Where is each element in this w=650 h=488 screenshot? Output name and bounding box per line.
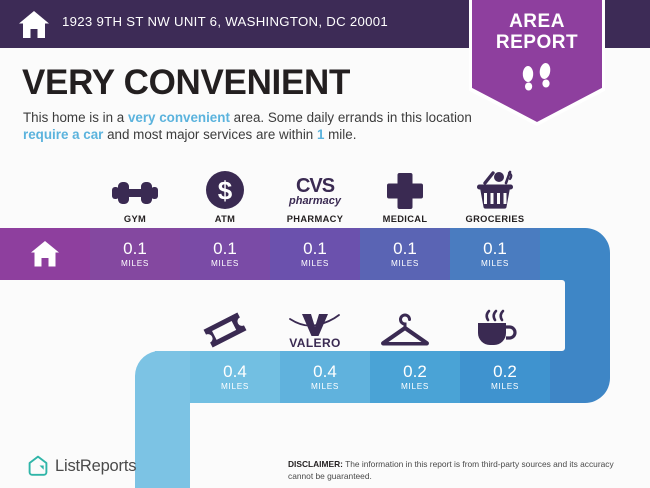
- distance-value: 0.4: [313, 363, 337, 381]
- distance-segment-gym: 0.1 MILES: [90, 228, 180, 280]
- home-marker-segment: [0, 228, 90, 280]
- property-address: 1923 9TH ST NW UNIT 6, WASHINGTON, DC 20…: [62, 14, 388, 29]
- subtitle-part-1: This home is in a: [23, 110, 128, 125]
- distance-value: 0.1: [123, 240, 147, 258]
- area-report-infographic: 1923 9TH ST NW UNIT 6, WASHINGTON, DC 20…: [0, 0, 650, 488]
- distance-segment-gas: 0.4 MILES: [280, 351, 370, 403]
- svg-text:CVS: CVS: [296, 175, 335, 197]
- distance-unit: MILES: [211, 259, 239, 268]
- subtitle-highlight-2: require a car: [23, 127, 103, 142]
- listreports-logo-icon: [28, 455, 48, 477]
- distance-unit: MILES: [221, 382, 249, 391]
- home-icon: [30, 240, 60, 268]
- medical-cross-icon: [360, 166, 450, 210]
- distance-value: 0.4: [223, 363, 247, 381]
- category-groceries: GROCERIES: [450, 166, 540, 224]
- category-gym: GYM: [90, 166, 180, 224]
- distance-segment-pharmacy: 0.1 MILES: [270, 228, 360, 280]
- subtitle-part-3: and most major services are within: [103, 127, 317, 142]
- distance-unit: MILES: [311, 382, 339, 391]
- distance-segment-groceries: 0.1 MILES: [450, 228, 540, 280]
- distance-unit: MILES: [401, 382, 429, 391]
- area-report-badge-text: AREA REPORT: [472, 11, 602, 53]
- distance-unit: MILES: [391, 259, 419, 268]
- subtitle-part-4: mile.: [324, 127, 356, 142]
- cvs-pharmacy-logo: CVS pharmacy: [270, 166, 360, 210]
- page-subtitle: This home is in a very convenient area. …: [23, 109, 473, 143]
- category-label: GYM: [90, 214, 180, 224]
- distance-segment-medical: 0.1 MILES: [360, 228, 450, 280]
- distance-value: 0.1: [393, 240, 417, 258]
- badge-line-2: REPORT: [472, 32, 602, 53]
- home-icon: [18, 9, 50, 40]
- svg-text:$: $: [218, 176, 233, 206]
- distance-ribbon: 0.1 MILES 0.1 MILES 0.1 MILES 0.1 MILES …: [0, 228, 650, 488]
- category-label: ATM: [180, 214, 270, 224]
- distance-value: 0.1: [483, 240, 507, 258]
- disclaimer-label: DISCLAIMER:: [288, 459, 343, 469]
- distance-value: 0.1: [213, 240, 237, 258]
- badge-line-1: AREA: [472, 11, 602, 32]
- subtitle-highlight-1: very convenient: [128, 110, 230, 125]
- distance-unit: MILES: [301, 259, 329, 268]
- distance-unit: MILES: [481, 259, 509, 268]
- category-label: MEDICAL: [360, 214, 450, 224]
- footprints-icon: [514, 62, 560, 96]
- distance-unit: MILES: [491, 382, 519, 391]
- row1-icon-strip: GYM $ ATM CVS pharmacy PHARMACY: [0, 166, 650, 228]
- distance-segment-cleaners: 0.2 MILES: [370, 351, 460, 403]
- page-title: VERY CONVENIENT: [22, 63, 350, 103]
- listreports-brand: ListReports: [28, 455, 136, 477]
- category-label: PHARMACY: [270, 214, 360, 224]
- svg-text:pharmacy: pharmacy: [288, 195, 342, 207]
- listreports-brand-text: ListReports: [55, 457, 136, 476]
- subtitle-part-2: area. Some daily errands in this locatio…: [230, 110, 472, 125]
- category-pharmacy: CVS pharmacy PHARMACY: [270, 166, 360, 224]
- grocery-basket-icon: [450, 166, 540, 210]
- category-medical: MEDICAL: [360, 166, 450, 224]
- distance-segment-atm: 0.1 MILES: [180, 228, 270, 280]
- dollar-circle-icon: $: [180, 166, 270, 210]
- disclaimer: DISCLAIMER: The information in this repo…: [288, 459, 640, 482]
- distance-unit: MILES: [121, 259, 149, 268]
- dumbbell-icon: [90, 166, 180, 210]
- distance-value: 0.2: [403, 363, 427, 381]
- category-atm: $ ATM: [180, 166, 270, 224]
- distance-segment-movie-theater: 0.4 MILES: [190, 351, 280, 403]
- distance-value: 0.1: [303, 240, 327, 258]
- distance-value: 0.2: [493, 363, 517, 381]
- category-label: GROCERIES: [450, 214, 540, 224]
- distance-segment-coffee: 0.2 MILES: [460, 351, 550, 403]
